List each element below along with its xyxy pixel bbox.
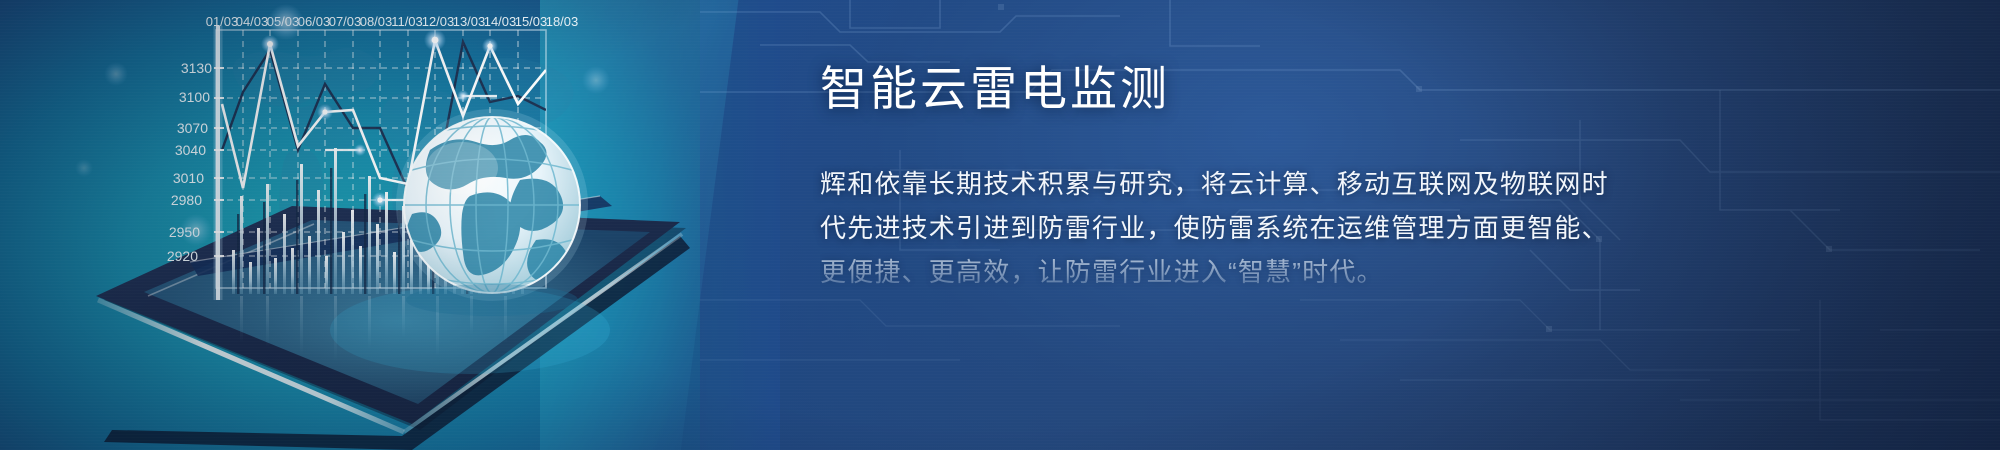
page-title: 智能云雷电监测 [820, 62, 1940, 116]
hero-copy: 智能云雷电监测 辉和依靠长期技术积累与研究，将云计算、移动互联网及物联网时 代先… [820, 62, 1940, 294]
description-line-2: 代先进技术引进到防雷行业，使防雷系统在运维管理方面更智能、 [820, 206, 1940, 250]
hero-banner: 01/03 04/03 05/03 06/03 07/03 08/03 11/0… [0, 0, 2000, 450]
hero-description: 辉和依靠长期技术积累与研究，将云计算、移动互联网及物联网时 代先进技术引进到防雷… [820, 162, 1940, 294]
description-line-1: 辉和依靠长期技术积累与研究，将云计算、移动互联网及物联网时 [820, 162, 1940, 206]
description-line-3: 更便捷、更高效，让防雷行业进入“智慧”时代。 [820, 250, 1940, 294]
